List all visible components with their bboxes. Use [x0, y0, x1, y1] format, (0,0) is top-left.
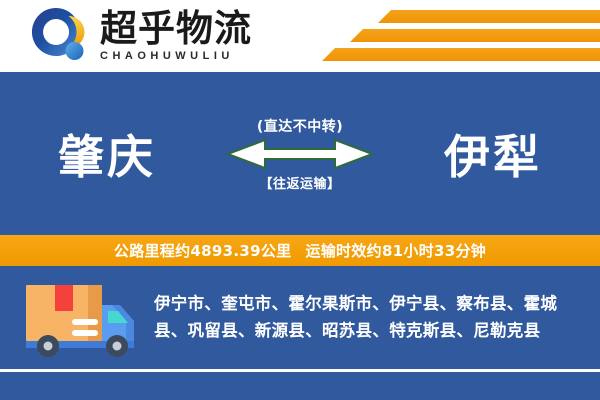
- destination-panel: 伊宁市、奎屯市、霍尔果斯市、伊宁县、察布县、霍城县、巩留县、新源县、昭苏县、特克…: [0, 266, 600, 369]
- chaohu-logo-mark-icon: [30, 6, 92, 66]
- route-info-bar: 公路里程约4893.39公里运输时效约81小时33分钟: [0, 235, 600, 266]
- brand-text: 超乎物流 CHAOHUWULIU: [100, 10, 252, 63]
- brand-logo: 超乎物流 CHAOHUWULIU: [30, 6, 252, 66]
- banner-header: 超乎物流 CHAOHUWULIU: [0, 0, 600, 72]
- stripe-1: [378, 10, 600, 23]
- header-decorative-stripes: [300, 8, 600, 66]
- destination-city-list: 伊宁市、奎屯市、霍尔果斯市、伊宁县、察布县、霍城县、巩留县、新源县、昭苏县、特克…: [154, 291, 582, 344]
- route-panel: 肇庆 (直达不中转) 【往返运输】 伊犁: [0, 72, 600, 235]
- logistics-route-banner: 超乎物流 CHAOHUWULIU 肇庆 (直达不中转) 【往返运输】 伊犁 公路…: [0, 0, 600, 400]
- distance-text: 公路里程约4893.39公里: [114, 242, 292, 260]
- duration-text: 运输时效约81小时33分钟: [305, 242, 486, 260]
- destination-city: 伊犁: [444, 121, 542, 187]
- brand-name-en: CHAOHUWULIU: [100, 50, 252, 62]
- bidirectional-arrow-icon: [210, 137, 390, 171]
- destination-line-2: 县、巩留县、新源县、昭苏县、特克斯县、尼勒克县: [154, 321, 540, 340]
- route-arrow-group: (直达不中转) 【往返运输】: [210, 116, 390, 192]
- origin-city: 肇庆: [58, 121, 156, 187]
- destination-line-1: 伊宁市、奎屯市、霍尔果斯市、伊宁县、察布县、霍城: [154, 294, 557, 313]
- stripe-3: [322, 48, 600, 61]
- delivery-truck-icon: [22, 277, 144, 359]
- stripe-2: [350, 29, 600, 42]
- route-note-roundtrip: 【往返运输】: [210, 173, 390, 192]
- info-bar-text: 公路里程约4893.39公里运输时效约81小时33分钟: [114, 240, 486, 261]
- banner-footer: [0, 372, 600, 400]
- brand-name-cn: 超乎物流: [100, 10, 252, 49]
- route-note-direct: (直达不中转): [210, 116, 390, 136]
